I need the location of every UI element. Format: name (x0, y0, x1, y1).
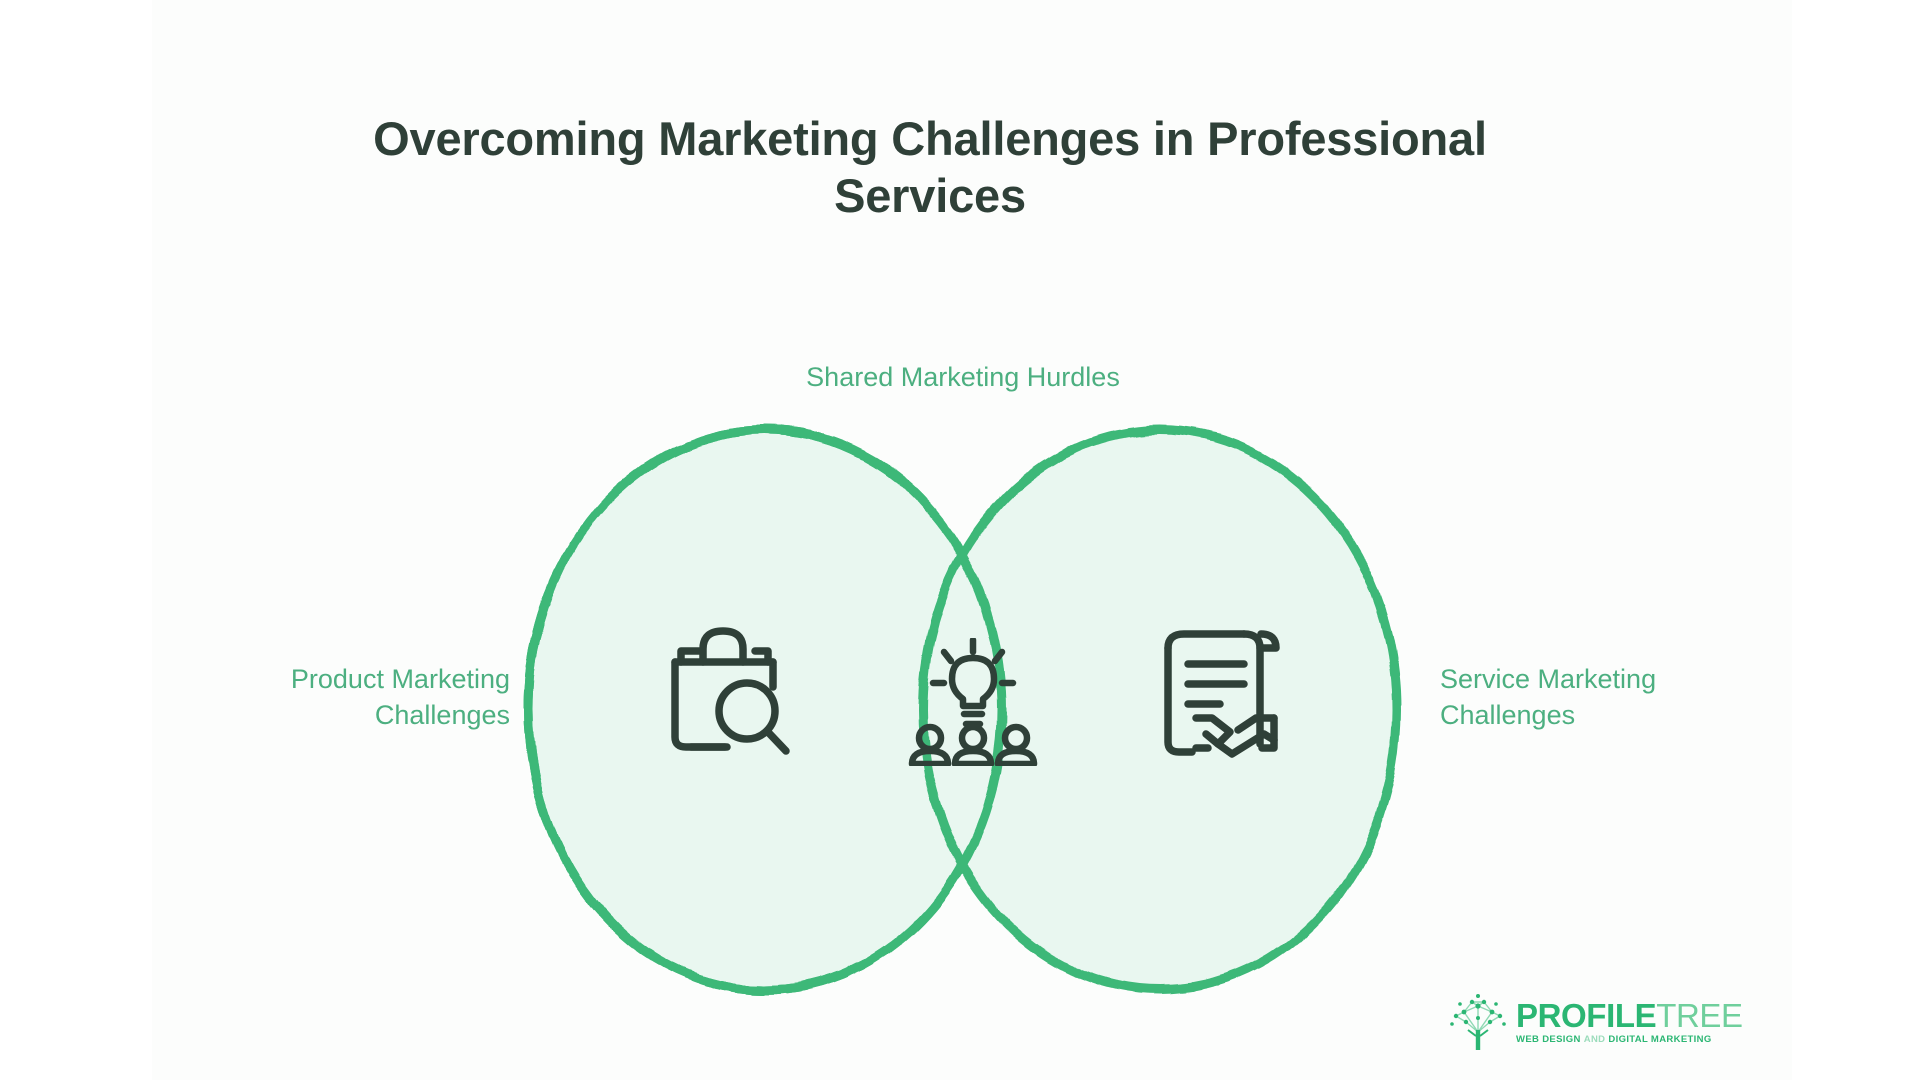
logo-word-profile: PROFILE (1516, 997, 1656, 1034)
network-tree-icon (1446, 990, 1510, 1052)
venn-label-right: Service Marketing Challenges (1440, 662, 1820, 733)
logo-text: PROFILETREE WEB DESIGN AND DIGITAL MARKE… (1516, 999, 1743, 1045)
venn-label-right-line-1: Service Marketing (1440, 664, 1656, 694)
page-title-line-1: Overcoming Marketing Challenges in Profe… (373, 112, 1487, 165)
shopping-bag-search-icon (655, 625, 805, 765)
logo-tagline-part-1: WEB DESIGN (1516, 1034, 1581, 1045)
venn-label-left-line-2: Challenges (375, 700, 510, 730)
venn-label-intersection: Shared Marketing Hurdles (583, 360, 1343, 396)
logo-tagline-part-2: AND (1584, 1034, 1606, 1045)
slide-canvas: Overcoming Marketing Challenges in Profe… (0, 0, 1920, 1080)
logo-tagline-part-3: DIGITAL MARKETING (1608, 1034, 1711, 1045)
page-title-line-2: Services (834, 169, 1026, 222)
venn-label-right-line-2: Challenges (1440, 700, 1575, 730)
logo-wordmark: PROFILETREE (1516, 999, 1743, 1032)
venn-label-left-line-1: Product Marketing (291, 664, 510, 694)
lightbulb-people-icon (908, 638, 1038, 766)
profiletree-logo: PROFILETREE WEB DESIGN AND DIGITAL MARKE… (1446, 982, 1736, 1060)
logo-word-tree: TREE (1656, 997, 1742, 1034)
logo-tagline: WEB DESIGN AND DIGITAL MARKETING (1516, 1035, 1743, 1045)
page-title: Overcoming Marketing Challenges in Profe… (290, 110, 1570, 225)
contract-handshake-icon (1148, 622, 1293, 767)
venn-label-left: Product Marketing Challenges (130, 662, 510, 733)
